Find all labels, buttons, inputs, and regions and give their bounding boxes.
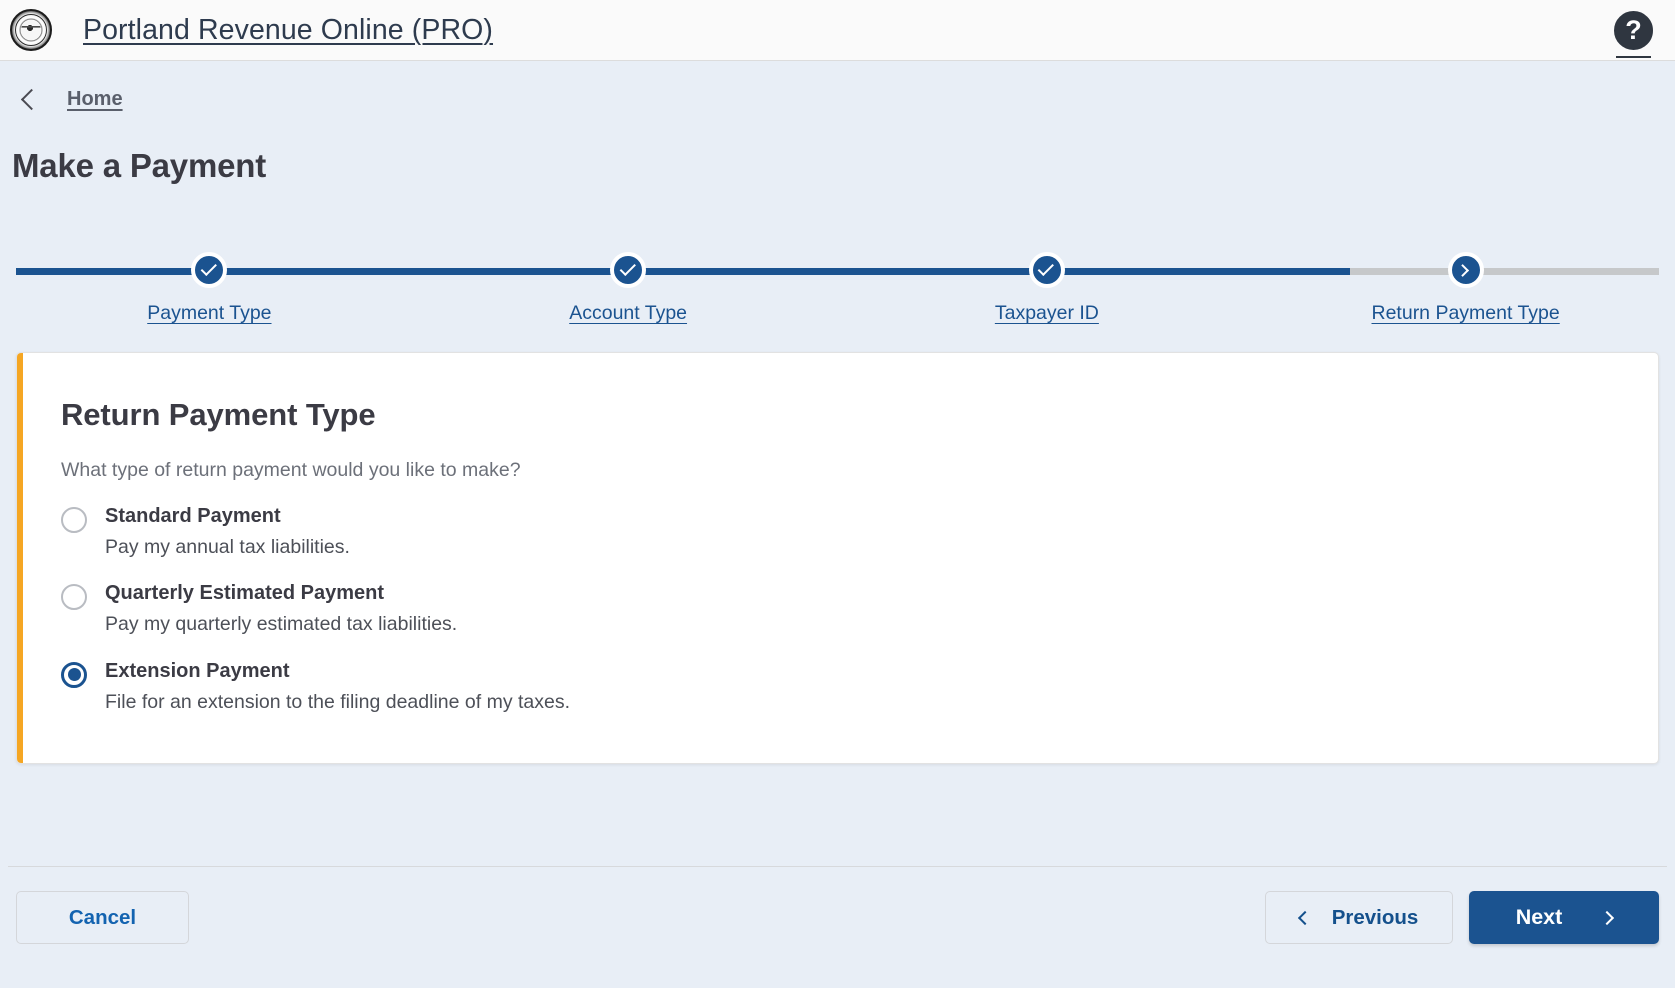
card-title: Return Payment Type [61, 397, 1658, 433]
chevron-right-icon [1448, 252, 1484, 288]
option-description: Pay my annual tax liabilities. [105, 535, 350, 559]
wizard-footer: Cancel Previous Next [0, 858, 1675, 988]
card-body: Return Payment Type What type of return … [17, 353, 1658, 714]
payment-type-radio-group: Standard Payment Pay my annual tax liabi… [61, 504, 1658, 714]
option-text: Extension Payment File for an extension … [105, 659, 570, 714]
chevron-left-icon[interactable] [21, 89, 42, 110]
app-title-link[interactable]: Portland Revenue Online (PRO) [83, 14, 493, 47]
stepper-label[interactable]: Payment Type [147, 302, 271, 325]
previous-button-label: Previous [1332, 906, 1419, 930]
chevron-right-icon [1600, 910, 1614, 924]
app-header: Portland Revenue Online (PRO) ? [0, 0, 1675, 61]
radio-button-standard-payment[interactable] [61, 507, 87, 533]
next-button-label: Next [1516, 905, 1563, 930]
radio-option-quarterly-estimated-payment[interactable]: Quarterly Estimated Payment Pay my quart… [61, 581, 1658, 636]
card-question: What type of return payment would you li… [61, 459, 1658, 482]
stepper-step-account-type[interactable]: Account Type [419, 236, 838, 325]
option-title: Standard Payment [105, 505, 281, 527]
check-icon [1029, 252, 1065, 288]
radio-option-extension-payment[interactable]: Extension Payment File for an extension … [61, 659, 1658, 714]
check-icon [191, 252, 227, 288]
radio-button-quarterly-estimated-payment[interactable] [61, 584, 87, 610]
option-text: Quarterly Estimated Payment Pay my quart… [105, 581, 457, 636]
next-button[interactable]: Next [1469, 891, 1659, 944]
option-title: Quarterly Estimated Payment [105, 582, 384, 604]
option-text: Standard Payment Pay my annual tax liabi… [105, 504, 350, 559]
page-title: Make a Payment [0, 111, 1675, 185]
stepper-step-return-payment-type[interactable]: Return Payment Type [1256, 236, 1675, 325]
breadcrumb: Home [0, 61, 1675, 111]
stepper-step-payment-type[interactable]: Payment Type [0, 236, 419, 325]
cancel-button[interactable]: Cancel [16, 891, 189, 944]
option-title: Extension Payment [105, 660, 290, 682]
stepper-label[interactable]: Taxpayer ID [995, 302, 1099, 325]
footer-buttons: Cancel Previous Next [0, 891, 1675, 944]
return-payment-type-card: Return Payment Type What type of return … [16, 352, 1659, 764]
radio-button-extension-payment[interactable] [61, 662, 87, 688]
option-description: File for an extension to the filing dead… [105, 690, 570, 714]
previous-button[interactable]: Previous [1265, 891, 1453, 944]
radio-option-standard-payment[interactable]: Standard Payment Pay my annual tax liabi… [61, 504, 1658, 559]
chevron-left-icon [1298, 910, 1312, 924]
check-icon [610, 252, 646, 288]
card-accent-bar [17, 353, 23, 763]
footer-divider [8, 866, 1667, 867]
help-icon[interactable]: ? [1614, 11, 1653, 50]
stepper-steps: Payment Type Account Type Taxpayer ID Re… [0, 236, 1675, 325]
stepper-label[interactable]: Account Type [569, 302, 687, 325]
breadcrumb-home-link[interactable]: Home [67, 88, 123, 111]
header-actions: ? [1614, 11, 1653, 50]
stepper-label[interactable]: Return Payment Type [1372, 302, 1560, 325]
city-seal-logo-icon [10, 9, 52, 51]
progress-stepper: Payment Type Account Type Taxpayer ID Re… [0, 236, 1675, 334]
stepper-step-taxpayer-id[interactable]: Taxpayer ID [838, 236, 1257, 325]
option-description: Pay my quarterly estimated tax liabiliti… [105, 612, 457, 636]
